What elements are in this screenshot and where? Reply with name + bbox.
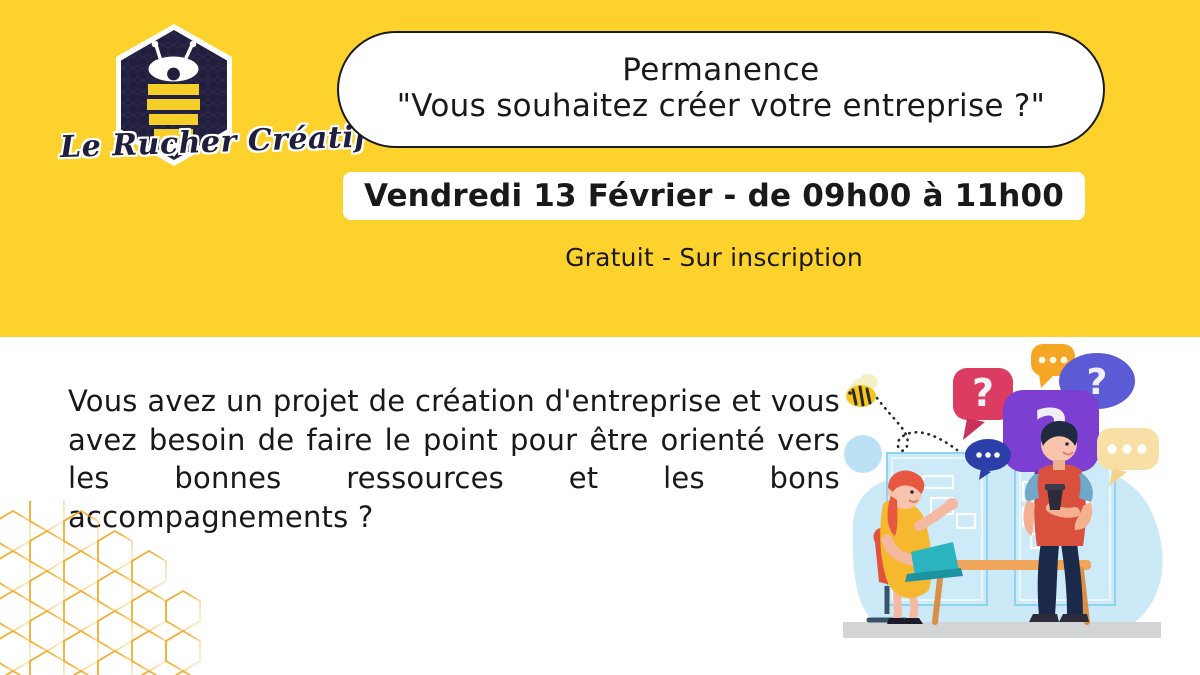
title-line-1: Permanence bbox=[622, 54, 820, 87]
title-line-2: "Vous souhaitez créer votre entreprise ?… bbox=[397, 89, 1046, 125]
floor bbox=[843, 622, 1161, 638]
background-circle bbox=[844, 435, 882, 473]
svg-text:?: ? bbox=[972, 371, 994, 415]
body-paragraph: Vous avez un projet de création d'entrep… bbox=[68, 382, 840, 536]
title-card: Permanence "Vous souhaitez créer votre e… bbox=[337, 31, 1105, 148]
date-text: Vendredi 13 Février - de 09h00 à 11h00 bbox=[364, 178, 1064, 214]
registration-note: Gratuit - Sur inscription bbox=[343, 243, 1085, 272]
meeting-illustration: ? ? ? bbox=[835, 336, 1200, 675]
brand-name-text: Le Rucher Créatif bbox=[59, 122, 300, 165]
brand-logo: Le Rucher Créatif bbox=[60, 22, 300, 212]
poster-canvas: Le Rucher Créatif Permanence "Vous souha… bbox=[0, 0, 1200, 675]
date-banner: Vendredi 13 Février - de 09h00 à 11h00 bbox=[343, 172, 1085, 220]
